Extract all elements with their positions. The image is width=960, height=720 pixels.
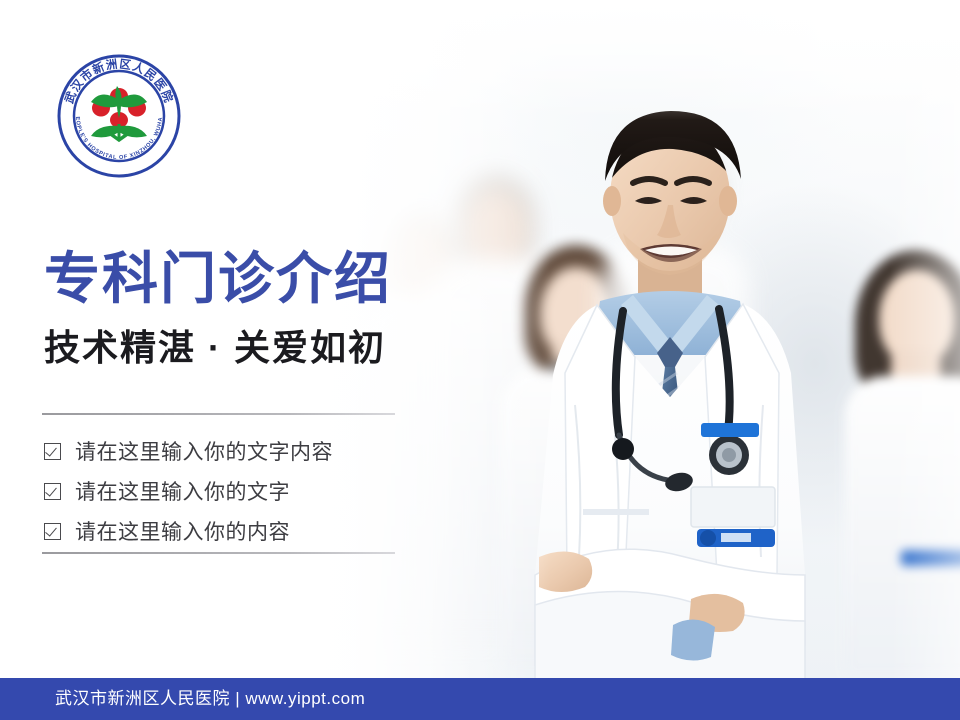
list-item-label: 请在这里输入你的文字: [75, 476, 290, 506]
list-item-label: 请在这里输入你的内容: [75, 516, 290, 546]
footer-bar: 武汉市新洲区人民医院 | www.yippt.com: [0, 678, 960, 720]
bullet-list: 请在这里输入你的文字内容 请在这里输入你的文字 请在这里输入你的内容: [44, 434, 404, 554]
doctor-figure: [505, 105, 835, 700]
page-subtitle: 技术精湛 · 关爱如初: [44, 327, 386, 368]
checkbox-checked-icon[interactable]: [44, 523, 61, 540]
list-item[interactable]: 请在这里输入你的文字: [44, 474, 404, 508]
list-item[interactable]: 请在这里输入你的内容: [44, 514, 404, 548]
footer-label: 武汉市新洲区人民医院 | www.yippt.com: [55, 678, 365, 720]
list-item-label: 请在这里输入你的文字内容: [75, 436, 333, 466]
medical-team-photo: [300, 0, 960, 700]
checkbox-checked-icon[interactable]: [44, 443, 61, 460]
presentation-slide: 武汉市新洲区人民医院 PEOPLE'S HOSPITAL OF XINZHOU,…: [0, 0, 960, 720]
page-title: 专科门诊介绍: [44, 250, 392, 309]
checkbox-checked-icon[interactable]: [44, 483, 61, 500]
divider-top: [42, 413, 395, 415]
hospital-logo: 武汉市新洲区人民医院 PEOPLE'S HOSPITAL OF XINZHOU,…: [55, 52, 183, 180]
list-item[interactable]: 请在这里输入你的文字内容: [44, 434, 404, 468]
divider-bottom: [42, 552, 395, 554]
photo-right-fade: [890, 0, 960, 700]
